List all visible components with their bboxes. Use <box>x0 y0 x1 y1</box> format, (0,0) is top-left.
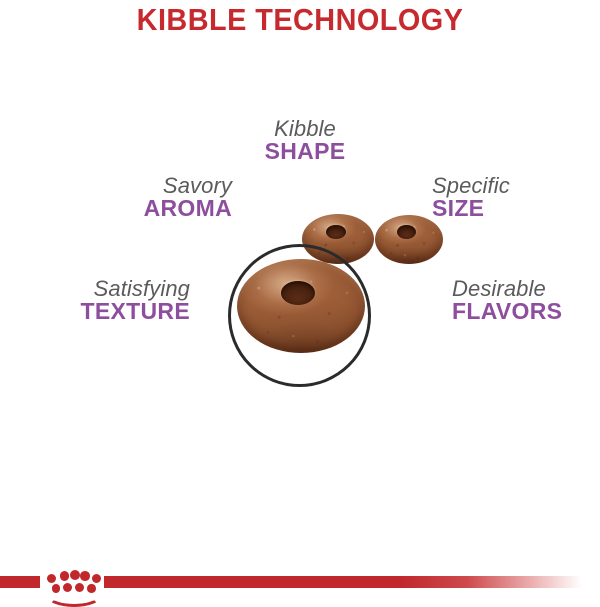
crown-dot <box>60 571 70 581</box>
crown-arc-inner <box>50 588 98 606</box>
feature-emph-flavors: FLAVORS <box>452 300 600 323</box>
highlight-circle-outline <box>228 244 371 387</box>
kibble-illustration <box>210 195 470 405</box>
crown-dot <box>92 574 101 583</box>
crown-dot <box>80 571 90 581</box>
footer-bar-right <box>104 576 582 588</box>
crown-dot <box>47 574 56 583</box>
kibble-small-2 <box>375 215 443 264</box>
feature-label-shape: Kibble SHAPE <box>225 118 385 164</box>
feature-emph-shape: SHAPE <box>225 140 385 163</box>
footer-brand-bar <box>0 565 600 600</box>
crown-dot <box>70 570 80 580</box>
feature-lead-shape: Kibble <box>225 118 385 140</box>
feature-lead-flavors: Desirable <box>452 278 600 300</box>
feature-emph-texture: TEXTURE <box>40 300 190 323</box>
kibble-center-hole <box>326 225 346 239</box>
kibble-center-hole <box>397 225 416 239</box>
kibble-texture-grain <box>375 215 443 264</box>
page-title: KIBBLE TECHNOLOGY <box>21 1 579 39</box>
footer-bar-left <box>0 576 40 588</box>
page-canvas: KIBBLE TECHNOLOGY Kibble SHAPE Savory AR… <box>0 0 600 600</box>
feature-lead-texture: Satisfying <box>40 278 190 300</box>
feature-label-flavors: Desirable FLAVORS <box>452 278 600 324</box>
feature-label-texture: Satisfying TEXTURE <box>40 278 190 324</box>
royal-canin-crown-icon <box>44 565 104 599</box>
